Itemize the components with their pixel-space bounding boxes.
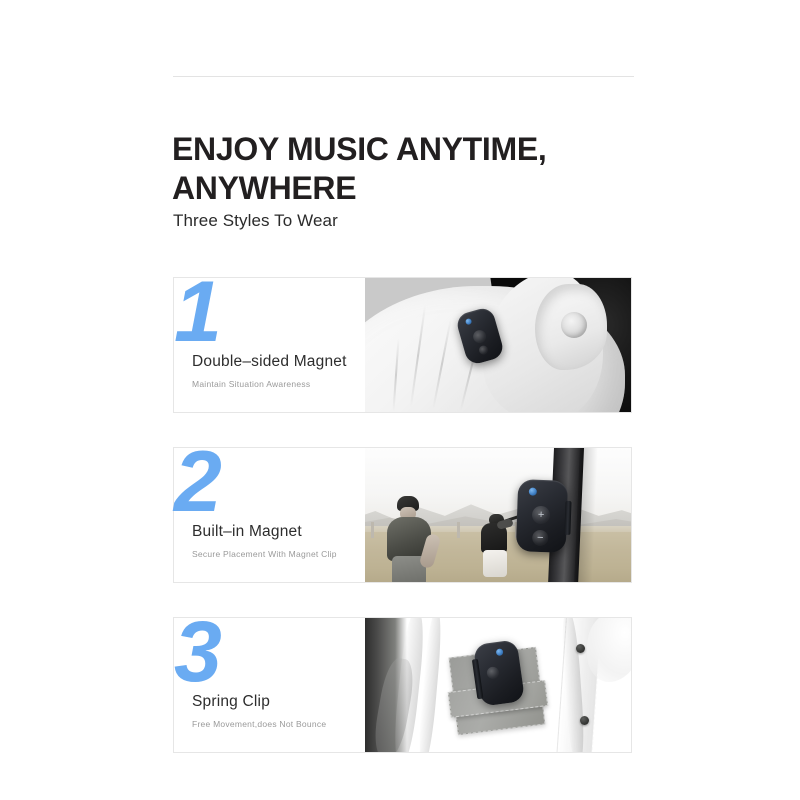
device-minus-icon: − xyxy=(532,533,548,545)
device-button-1 xyxy=(478,345,489,356)
photo-2-fence-post xyxy=(371,522,374,538)
device-body-3 xyxy=(473,639,525,707)
photo-3-shirt-button xyxy=(576,644,585,653)
photo-1-collar-knot xyxy=(561,312,587,338)
photo-2-golfer-foreground xyxy=(383,496,439,582)
photo-2-golfer-trousers xyxy=(483,550,507,577)
device-plus-icon: + xyxy=(532,510,550,522)
photo-3-shirt-button xyxy=(580,716,589,725)
device-body-2: + − xyxy=(516,479,568,553)
card-numeral-1: 1 xyxy=(174,266,254,358)
photo-3-background-highlight xyxy=(587,618,631,682)
device-led-3 xyxy=(496,648,504,656)
device-led-2 xyxy=(529,488,537,496)
card-subtitle-1: Maintain Situation Awareness xyxy=(192,379,392,390)
product-feature-page: ENJOY MUSIC ANYTIME, ANYWHERE Three Styl… xyxy=(0,0,800,800)
page-title: ENJOY MUSIC ANYTIME, ANYWHERE xyxy=(172,130,642,208)
device-button-3 xyxy=(486,666,500,680)
page-subtitle: Three Styles To Wear xyxy=(173,210,338,232)
card-subtitle-2: Secure Placement With Magnet Clip xyxy=(192,549,392,560)
device-button-1 xyxy=(472,329,488,345)
card-subtitle-3: Free Movement,does Not Bounce xyxy=(192,719,392,730)
photo-2-fence-post xyxy=(457,522,460,538)
header-divider xyxy=(173,76,634,77)
photo-chest-grey-sweater xyxy=(365,278,631,412)
card-numeral-3: 3 xyxy=(174,606,254,698)
photo-denim-shirt-pocket xyxy=(365,618,631,752)
device-clip-2 xyxy=(564,501,571,535)
photo-golf-course-pole: + − xyxy=(365,448,631,582)
photo-2-golfer-swinging xyxy=(471,506,519,578)
card-numeral-2: 2 xyxy=(174,436,254,528)
device-led-1 xyxy=(465,318,472,325)
